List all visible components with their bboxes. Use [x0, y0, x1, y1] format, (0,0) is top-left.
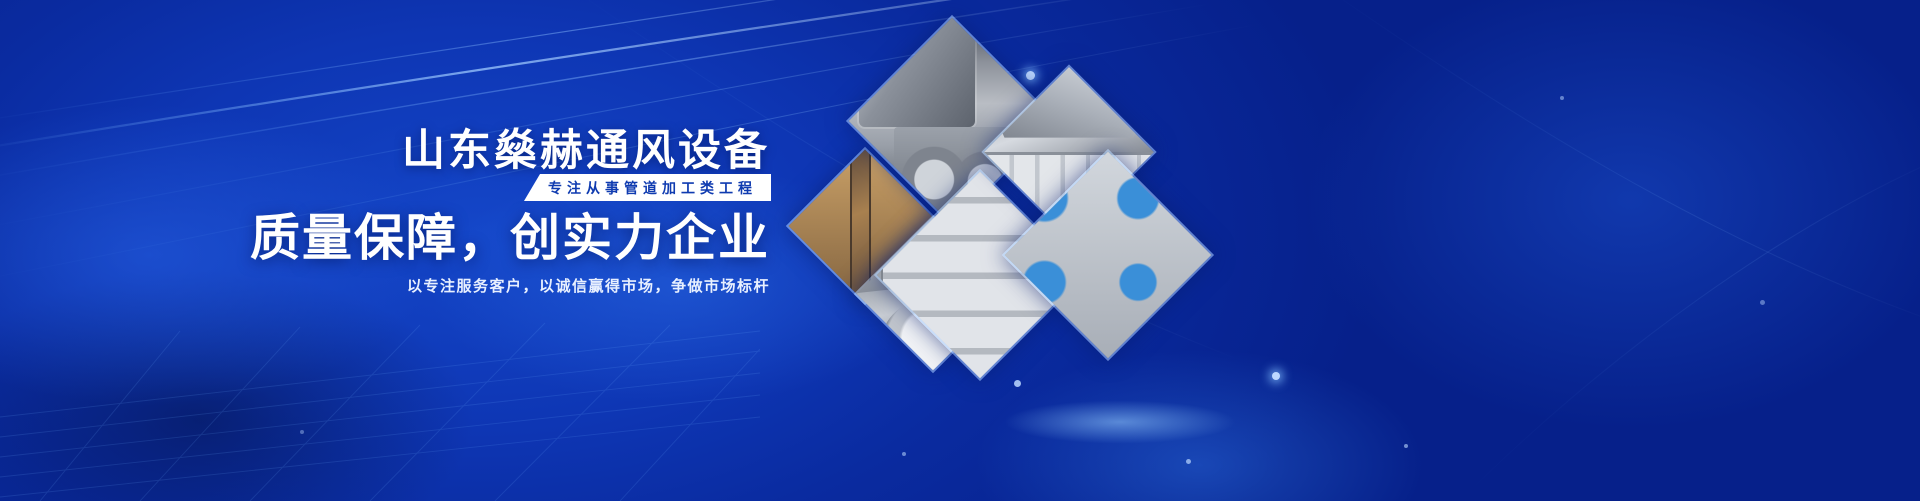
hero-tagline: 以专注服务客户，以诚信赢得市场，争做市场标杆 [0, 275, 770, 296]
glow-dot [1014, 380, 1021, 387]
glow-dot [1404, 444, 1408, 448]
diamond-photo-collage [795, 52, 1245, 368]
hero-headline: 质量保障，创实力企业 [0, 208, 770, 268]
ground-glow [960, 392, 1280, 452]
company-title: 山东燊赫通风设备 [0, 127, 770, 176]
glow-dot [1186, 459, 1191, 464]
hero-copy: 山东燊赫通风设备 专注从事管道加工类工程 质量保障，创实力企业 以专注服务客户，… [0, 0, 800, 501]
specialty-badge: 专注从事管道加工类工程 [524, 174, 771, 201]
specialty-badge-label: 专注从事管道加工类工程 [548, 181, 757, 195]
glow-dot [1272, 372, 1280, 380]
hero-banner: 山东燊赫通风设备 专注从事管道加工类工程 质量保障，创实力企业 以专注服务客户，… [0, 0, 1920, 501]
glow-right [1180, 0, 1920, 501]
glow-dot [1760, 300, 1765, 305]
glow-dot [1560, 96, 1564, 100]
glow-dot [902, 452, 906, 456]
